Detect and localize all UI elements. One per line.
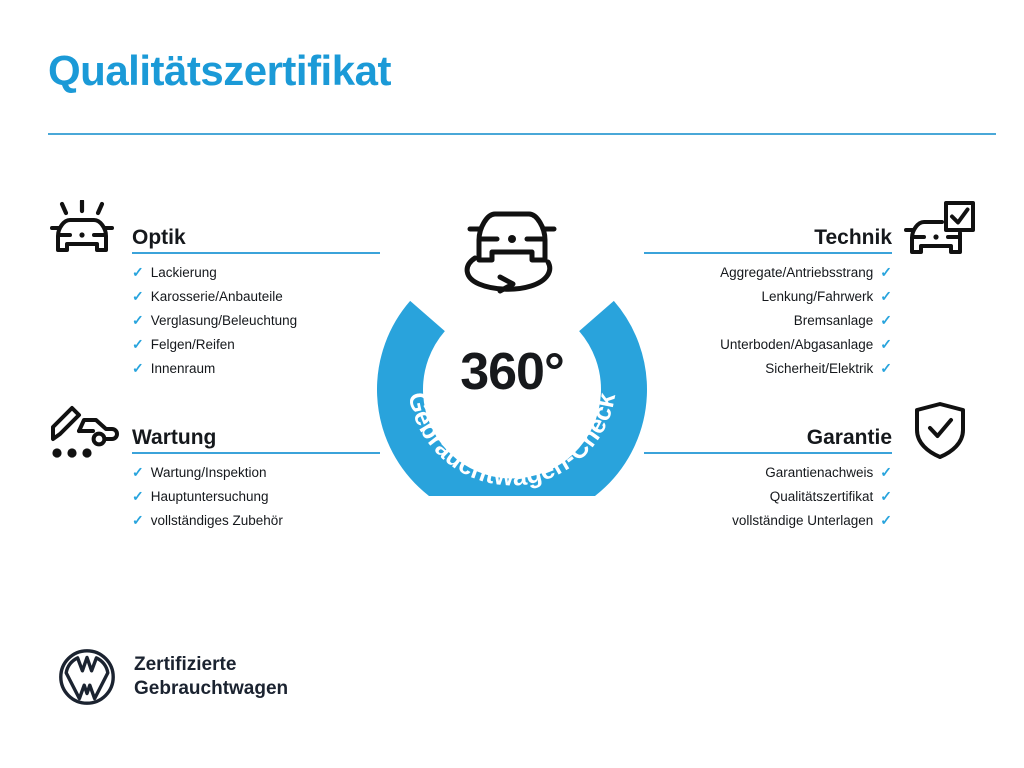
list-item-label: vollständiges Zubehör	[151, 513, 283, 528]
list-item-label: Karosserie/Anbauteile	[151, 289, 283, 304]
shield-check-icon	[904, 400, 976, 462]
check-icon: ✓	[132, 265, 144, 279]
section-divider-garantie	[644, 452, 892, 454]
list-item-label: Lackierung	[151, 265, 217, 280]
check-icon: ✓	[880, 265, 892, 279]
check-icon: ✓	[880, 337, 892, 351]
check-icon: ✓	[880, 465, 892, 479]
list-item-label: Bremsanlage	[794, 313, 874, 328]
badge-number: 360°	[374, 346, 650, 398]
check-icon: ✓	[132, 465, 144, 479]
list-item-label: Sicherheit/Elektrik	[765, 361, 873, 376]
column-right-technik: Technik Aggregate/Antriebsstrang✓ Lenkun…	[596, 200, 976, 380]
vw-lockup-line1: Zertifizierte	[134, 654, 236, 675]
vw-lockup-line2: Gebrauchtwagen	[134, 678, 288, 699]
section-divider-wartung	[132, 452, 380, 454]
check-icon: ✓	[132, 313, 144, 327]
check-icon: ✓	[880, 489, 892, 503]
section-divider-optik	[132, 252, 380, 254]
list-item-label: Wartung/Inspektion	[151, 465, 267, 480]
check-icon: ✓	[880, 289, 892, 303]
list-item-label: Unterboden/Abgasanlage	[720, 337, 873, 352]
list-item-label: Aggregate/Antriebsstrang	[720, 265, 873, 280]
list-item-label: Verglasung/Beleuchtung	[151, 313, 297, 328]
section-title-technik: Technik	[814, 227, 892, 248]
check-icon: ✓	[880, 513, 892, 527]
section-title-garantie: Garantie	[807, 427, 892, 448]
check-icon: ✓	[880, 361, 892, 375]
list-item-label: Hauptuntersuchung	[151, 489, 269, 504]
vw-lockup-text: Zertifizierte Gebrauchtwagen	[134, 653, 288, 702]
section-garantie: Garantie Garantienachweis✓ Qualitätszert…	[596, 400, 976, 532]
page-title: Qualitätszertifikat	[48, 50, 391, 92]
check-icon: ✓	[132, 361, 144, 375]
check-icon: ✓	[132, 289, 144, 303]
column-left-wartung: Wartung ✓Wartung/Inspektion ✓Hauptunters…	[48, 400, 428, 532]
title-divider	[48, 133, 996, 135]
column-right-garantie: Garantie Garantienachweis✓ Qualitätszert…	[596, 400, 976, 532]
list-item: vollständige Unterlagen✓	[596, 508, 892, 532]
vw-logo	[58, 648, 116, 706]
list-item-label: Lenkung/Fahrwerk	[761, 289, 873, 304]
vw-certified-lockup: Zertifizierte Gebrauchtwagen	[58, 648, 288, 706]
section-title-optik: Optik	[132, 227, 186, 248]
list-item-label: Felgen/Reifen	[151, 337, 235, 352]
check-icon: ✓	[880, 313, 892, 327]
column-left-optik: Optik ✓Lackierung ✓Karosserie/Anbauteile…	[48, 200, 428, 380]
section-technik: Technik Aggregate/Antriebsstrang✓ Lenkun…	[596, 200, 976, 380]
list-item-label: vollständige Unterlagen	[732, 513, 873, 528]
car-checkbox-icon	[904, 200, 976, 262]
check-icon: ✓	[132, 489, 144, 503]
section-title-wartung: Wartung	[132, 427, 216, 448]
list-item: ✓vollständiges Zubehör	[132, 508, 428, 532]
car-shine-icon	[48, 200, 120, 262]
section-divider-technik	[644, 252, 892, 254]
list-item-label: Garantienachweis	[765, 465, 873, 480]
car-lift-icon	[48, 400, 120, 462]
check-icon: ✓	[132, 513, 144, 527]
badge-360-gebrauchtwagen-check: Gebrauchtwagen-Check 360°	[374, 196, 650, 496]
section-optik: Optik ✓Lackierung ✓Karosserie/Anbauteile…	[48, 200, 428, 380]
list-item-label: Innenraum	[151, 361, 216, 376]
list-item-label: Qualitätszertifikat	[770, 489, 874, 504]
section-wartung: Wartung ✓Wartung/Inspektion ✓Hauptunters…	[48, 400, 428, 532]
check-icon: ✓	[132, 337, 144, 351]
